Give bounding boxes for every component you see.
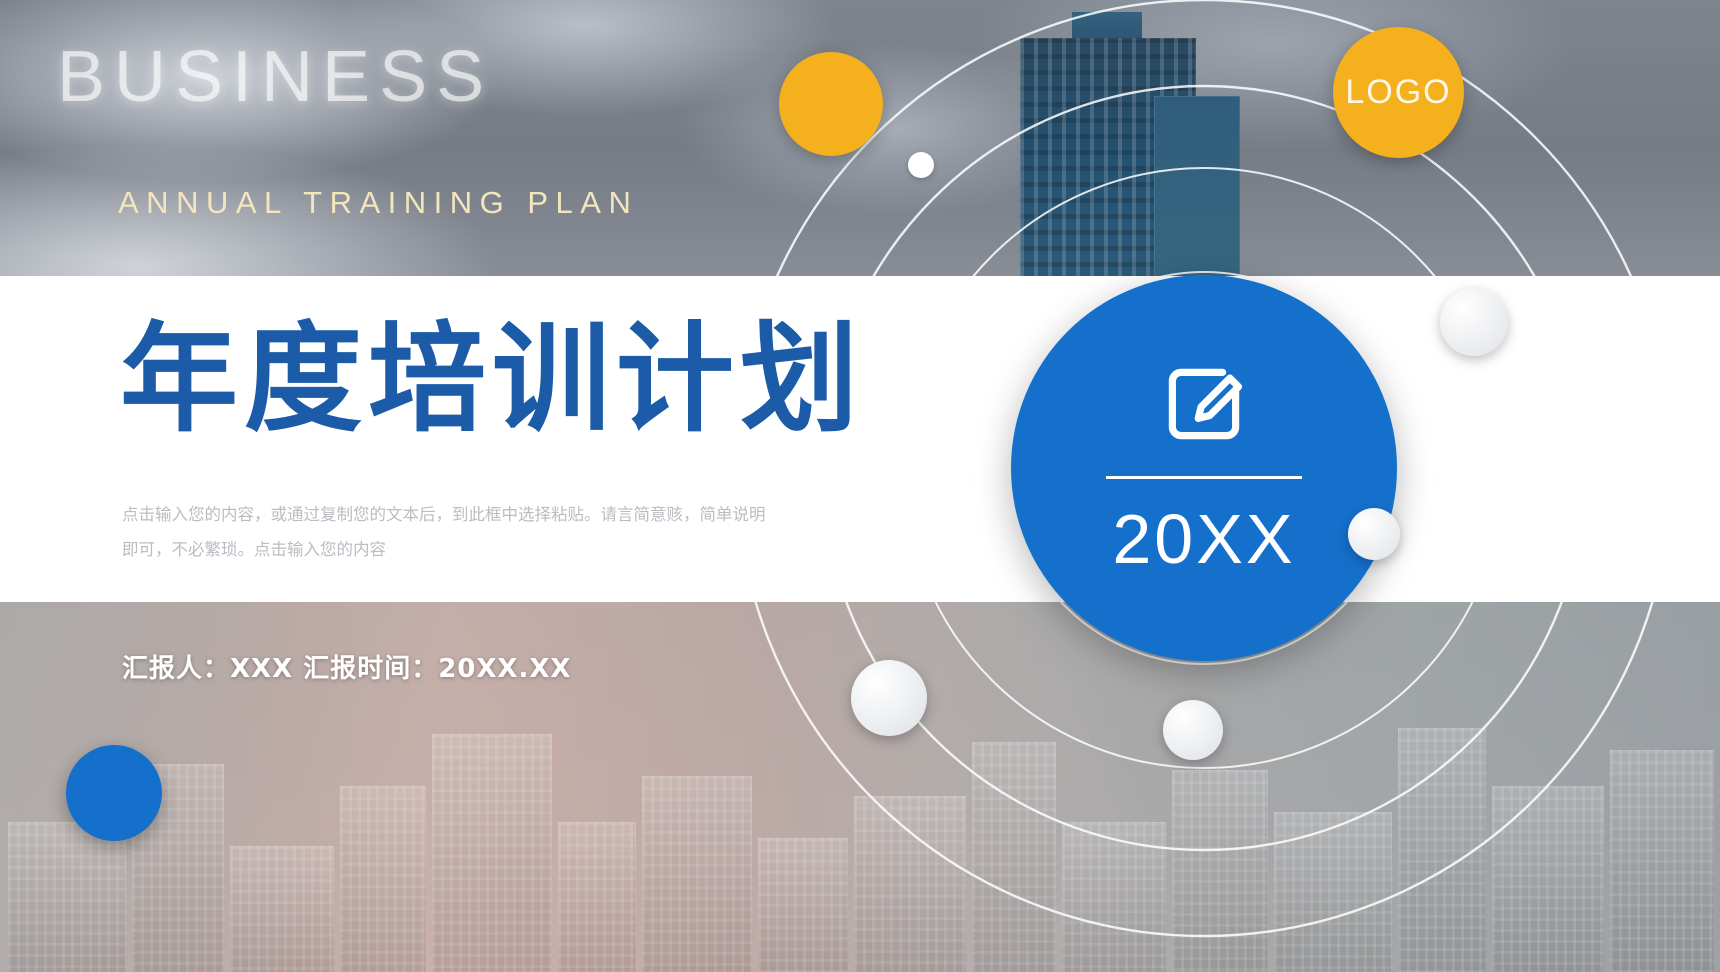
building-silhouette bbox=[230, 846, 334, 972]
white-orbit-dot-5 bbox=[908, 152, 934, 178]
building-silhouette bbox=[642, 776, 752, 972]
building-silhouette bbox=[340, 786, 426, 972]
orange-accent-circle bbox=[779, 52, 883, 156]
white-orbit-dot-4 bbox=[1163, 700, 1223, 760]
subtitle-heading: ANNUAL TRAINING PLAN bbox=[118, 185, 638, 221]
badge-divider-rule bbox=[1106, 476, 1302, 479]
building-silhouette bbox=[558, 822, 636, 972]
skyscraper-silhouette-secondary bbox=[1154, 96, 1240, 286]
lead-paragraph-line-2: 即可，不必繁琐。点击输入您的内容 bbox=[122, 533, 912, 568]
building-silhouette bbox=[1610, 750, 1714, 972]
presentation-slide: BUSINESS ANNUAL TRAINING PLAN 年度培训计划 点击输… bbox=[0, 0, 1720, 972]
lead-paragraph: 点击输入您的内容，或通过复制您的文本后，到此框中选择粘贴。请言简意赅，简单说明 … bbox=[122, 498, 912, 567]
badge-year-label: 20XX bbox=[1112, 499, 1295, 579]
building-silhouette bbox=[972, 742, 1056, 972]
lead-paragraph-line-1: 点击输入您的内容，或通过复制您的文本后，到此框中选择粘贴。请言简意赅，简单说明 bbox=[122, 498, 912, 533]
building-silhouette bbox=[1398, 728, 1486, 972]
white-orbit-dot-3 bbox=[851, 660, 927, 736]
building-silhouette bbox=[854, 796, 966, 972]
page-title: 年度培训计划 bbox=[120, 318, 864, 441]
year-badge: 20XX bbox=[1011, 275, 1397, 661]
building-silhouette bbox=[758, 838, 848, 972]
building-silhouette bbox=[1062, 822, 1166, 972]
building-silhouette bbox=[1274, 812, 1392, 972]
building-silhouette bbox=[1492, 786, 1604, 972]
edit-square-pencil-icon bbox=[1158, 358, 1250, 450]
eyebrow-heading: BUSINESS bbox=[57, 36, 493, 118]
building-silhouette bbox=[1172, 770, 1268, 972]
white-orbit-dot-1 bbox=[1440, 288, 1508, 356]
building-silhouette bbox=[432, 734, 552, 972]
byline-presenter-and-date: 汇报人：XXX 汇报时间：20XX.XX bbox=[122, 648, 571, 685]
white-orbit-dot-2 bbox=[1348, 508, 1400, 560]
logo-label: LOGO bbox=[1345, 73, 1451, 112]
blue-accent-circle bbox=[66, 745, 162, 841]
building-silhouette bbox=[8, 822, 126, 972]
logo-badge: LOGO bbox=[1333, 27, 1464, 158]
